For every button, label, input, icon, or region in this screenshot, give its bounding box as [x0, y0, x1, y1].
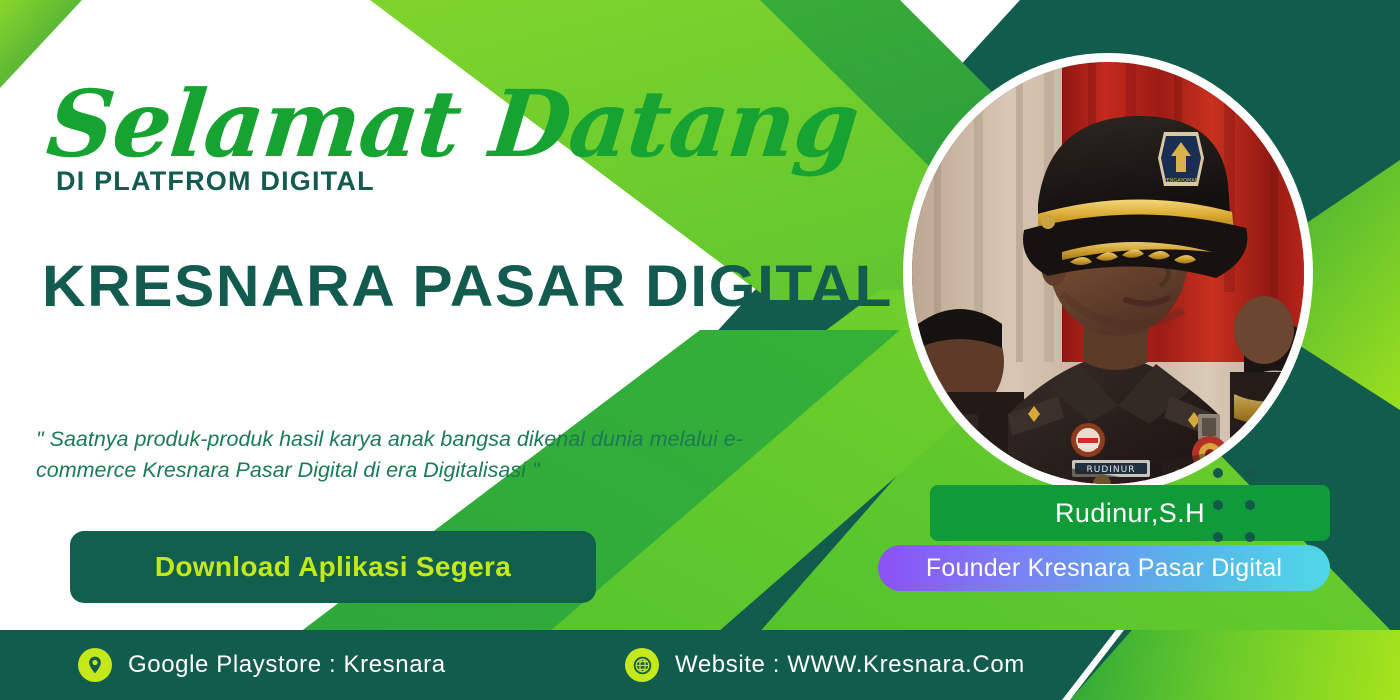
dot-grid-decoration — [1213, 468, 1265, 544]
dot — [1213, 532, 1223, 542]
founder-photo-illustration: KEJA RI — [912, 62, 1304, 484]
footer-playstore-label: Google Playstore : Kresnara — [128, 651, 446, 679]
script-headline: Selamat Datang — [43, 78, 862, 170]
founder-role-pill: Founder Kresnara Pasar Digital — [878, 545, 1330, 591]
download-app-label: Download Aplikasi Segera — [155, 551, 511, 583]
dot — [1245, 468, 1255, 478]
dot — [1213, 500, 1223, 510]
founder-photo-frame: KEJA RI — [903, 53, 1313, 493]
founder-name-band: Rudinur,S.H — [930, 485, 1330, 541]
sub-headline: DI PLATFROM DIGITAL — [56, 166, 375, 197]
dot — [1213, 468, 1223, 478]
footer-website-item[interactable]: Website : WWW.Kresnara.Com — [625, 630, 1025, 700]
founder-photo: KEJA RI — [912, 62, 1304, 484]
founder-role: Founder Kresnara Pasar Digital — [926, 554, 1282, 583]
footer-playstore-item[interactable]: Google Playstore : Kresnara — [78, 630, 446, 700]
download-app-button[interactable]: Download Aplikasi Segera — [70, 531, 596, 603]
founder-name: Rudinur,S.H — [1055, 498, 1205, 529]
dot — [1245, 500, 1255, 510]
globe-icon — [625, 648, 659, 682]
footer-website-label: Website : WWW.Kresnara.Com — [675, 651, 1025, 679]
promo-banner: Selamat Datang DI PLATFROM DIGITAL KRESN… — [0, 0, 1400, 700]
svg-text:PENGAYOMAN: PENGAYOMAN — [1163, 178, 1198, 184]
page-title: KRESNARA PASAR DIGITAL — [42, 253, 893, 320]
dot — [1245, 532, 1255, 542]
tagline-quote: " Saatnya produk-produk hasil karya anak… — [36, 424, 796, 486]
location-pin-icon — [78, 648, 112, 682]
